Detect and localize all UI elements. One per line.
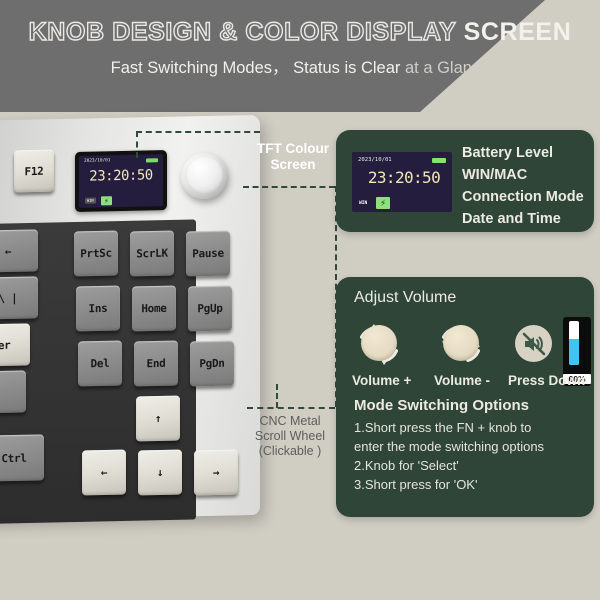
volume-control-labels: Volume + Volume - Press Down: [350, 373, 586, 391]
annotation-knob-line2: Scroll Wheel: [240, 429, 340, 444]
keyboard-key[interactable]: Ins: [76, 286, 120, 332]
label-press-down: Press Down: [508, 373, 585, 388]
keyboard-screen-date: 2023/10/01: [84, 158, 110, 164]
label-volume-down: Volume -: [434, 373, 490, 388]
keyboard-key[interactable]: [0, 370, 26, 413]
volume-down-knob[interactable]: [434, 321, 488, 369]
keyboard-screen-time: 23:20:50: [79, 167, 163, 185]
connector-knob-right: [243, 186, 335, 188]
keyboard-key[interactable]: Home: [132, 286, 176, 332]
annotation-tft-label: TFT Colour Screen: [243, 141, 343, 173]
keyboard-screen-os-label: WIN: [85, 198, 96, 204]
screenshot-root: KNOB DESIGN & COLOR DISPLAY SCREEN Fast …: [0, 0, 600, 600]
volume-mode-card: Adjust Volume: [336, 277, 594, 517]
keyboard-key[interactable]: ScrLK: [130, 231, 174, 277]
page-title: KNOB DESIGN & COLOR DISPLAY SCREEN: [0, 18, 600, 47]
page-title-part2: SCREEN: [464, 18, 572, 46]
volume-slider-fill: [569, 339, 579, 365]
volume-slider-track: [569, 321, 579, 365]
mute-speaker-icon: [521, 331, 547, 357]
keyboard-key[interactable]: PrtSc: [74, 231, 118, 277]
tft-feature-item: WIN/MAC: [462, 164, 592, 186]
annotation-knob-line3: (Clickable ): [240, 444, 340, 459]
annotation-knob-label: CNC Metal Scroll Wheel (Clickable ): [240, 414, 340, 458]
keyboard-screen-battery-icon: [146, 158, 158, 162]
annotation-tft-line1: TFT Colour: [243, 141, 343, 157]
mute-button[interactable]: [515, 325, 552, 362]
keyboard-key[interactable]: ←: [82, 450, 126, 496]
tft-battery-icon: [432, 158, 446, 163]
tft-os-label: WIN: [359, 201, 367, 206]
tft-date: 2023/10/01: [358, 157, 392, 163]
keyboard-key[interactable]: F12: [14, 150, 54, 193]
connector-knob-down: [276, 384, 278, 408]
mode-switching-steps: 1.Short press the FN + knob toenter the …: [354, 419, 582, 495]
keyboard-key[interactable]: Ctrl: [0, 434, 44, 481]
keyboard-key[interactable]: Pause: [186, 231, 230, 277]
tft-connection-icon: ⚡: [376, 197, 390, 209]
tft-feature-list: Battery LevelWIN/MACConnection ModeDate …: [462, 142, 592, 230]
tft-feature-card: 2023/10/01 23:20:50 WIN ⚡ Battery LevelW…: [336, 130, 594, 232]
connector-screen-down: [136, 131, 138, 158]
keyboard-key[interactable]: \ |: [0, 276, 38, 319]
page-subtitle-main: Fast Switching Modes， Status is Clear: [111, 59, 405, 77]
tft-feature-item: Battery Level: [462, 142, 592, 164]
annotation-knob-line1: CNC Metal: [240, 414, 340, 429]
page-title-part1: KNOB DESIGN & COLOR DISPLAY: [29, 18, 464, 46]
keyboard-key[interactable]: ←: [0, 229, 38, 272]
tft-feature-item: Date and Time: [462, 208, 592, 230]
keyboard-key[interactable]: PgUp: [188, 286, 232, 332]
volume-up-knob-face: [361, 325, 397, 361]
volume-down-knob-face: [443, 325, 479, 361]
volume-up-knob[interactable]: [352, 321, 406, 369]
tft-screen-preview: 2023/10/01 23:20:50 WIN ⚡: [352, 152, 452, 212]
volume-controls-row: 60%: [352, 321, 582, 373]
adjust-volume-title: Adjust Volume: [354, 289, 456, 307]
keyboard-key[interactable]: Del: [78, 341, 122, 387]
keyboard-key[interactable]: ↓: [138, 450, 182, 496]
keyboard-tft-display: 2023/10/01 23:20:50 WIN ⚡: [79, 154, 163, 208]
keyboard-key[interactable]: ter: [0, 323, 30, 366]
keyboard-key[interactable]: →: [194, 450, 238, 496]
mode-step: 3.Short press for 'OK': [354, 476, 582, 495]
tft-feature-item: Connection Mode: [462, 186, 592, 208]
label-volume-up: Volume +: [352, 373, 411, 388]
connector-knob-bottom: [247, 407, 335, 409]
keyboard-key[interactable]: ↑: [136, 396, 180, 442]
keyboard-tft-screen: 2023/10/01 23:20:50 WIN ⚡: [75, 150, 167, 212]
mode-switching-title: Mode Switching Options: [354, 397, 529, 414]
page-subtitle-dim: at a Glance: [405, 59, 489, 77]
connector-screen-top: [136, 131, 260, 133]
annotation-tft-line2: Screen: [243, 157, 343, 173]
scroll-wheel-knob-face: [185, 156, 223, 195]
tft-time: 23:20:50: [358, 168, 450, 187]
mode-step: 2.Knob for 'Select': [354, 457, 582, 476]
keyboard-key[interactable]: End: [134, 341, 178, 387]
keyboard-screen-connection-icon: ⚡: [101, 196, 112, 205]
mode-step: 1.Short press the FN + knob to: [354, 419, 582, 438]
mode-step: enter the mode switching options: [354, 438, 582, 457]
page-subtitle: Fast Switching Modes， Status is Clear at…: [0, 54, 600, 78]
keyboard-key[interactable]: PgDn: [190, 341, 234, 387]
